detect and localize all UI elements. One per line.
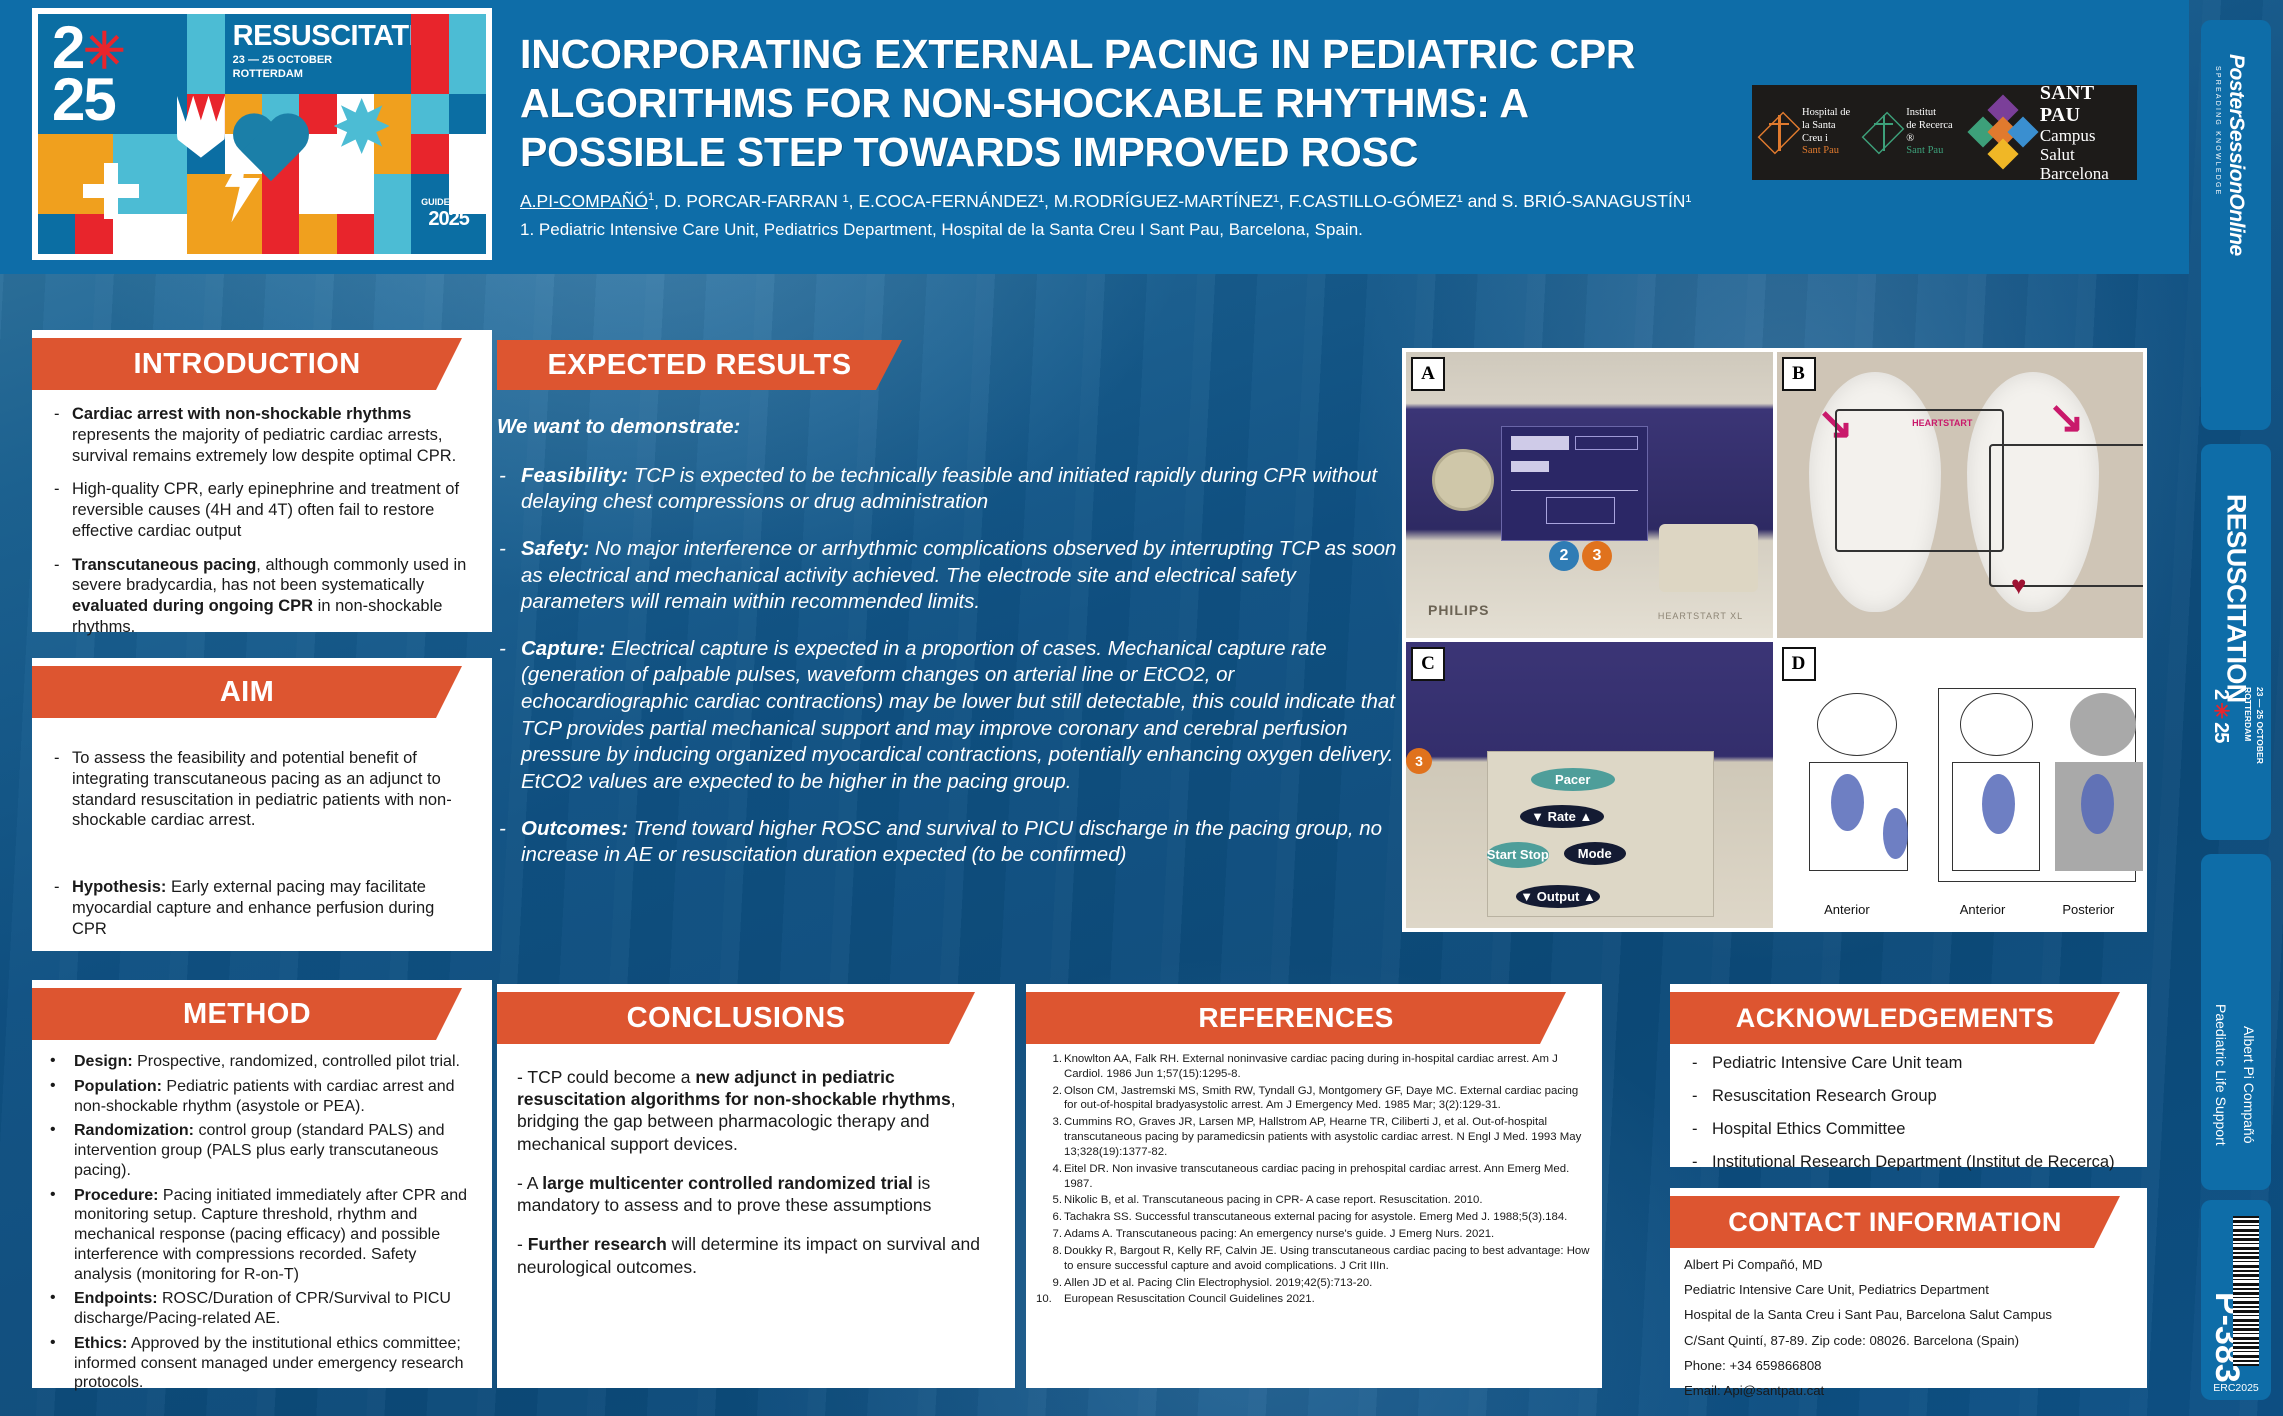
references-body: Knowlton AA, Falk RH. External noninvasi…: [1026, 1044, 1602, 1307]
list-item: To assess the feasibility and potential …: [50, 748, 472, 831]
conclusions-body: - TCP could become a new adjunct in pedi…: [497, 1044, 1015, 1278]
expected-item-outcomes: Outcomes: Trend toward higher ROSC and s…: [497, 816, 1402, 869]
sidebar-conference-dates: 23 — 25 OCTOBER ROTTERDAM: [2241, 687, 2265, 764]
hospital-line1: Hospital de: [1802, 107, 1856, 120]
tile-cyan: [411, 94, 448, 134]
section-title: AIM: [220, 676, 274, 709]
sidebar-topic-label: Paediatric Life Support: [2213, 1004, 2229, 1146]
poster-header: 2✳ 25 RESUSCITATION 23 — 25 OCTOBER ROTT…: [0, 0, 2189, 274]
institut-line1: Institut: [1906, 107, 1956, 120]
section-conclusions: CONCLUSIONS - TCP could become a new adj…: [497, 984, 1015, 1388]
barcode-icon: [2233, 1216, 2259, 1366]
list-item: Hospital Ethics Committee: [1684, 1120, 2141, 1139]
section-expected-results: EXPECTED RESULTS We want to demonstrate:…: [497, 340, 1402, 889]
institution-logos: Hospital de la Santa Creu i Sant Pau Ins…: [1752, 85, 2137, 180]
conclusion-paragraph: - A large multicenter controlled randomi…: [517, 1172, 993, 1216]
figure-panel-c-pacer-controls: C 3 Pacer ▼ Rate ▲ Start Stop Mode ▼ Out…: [1406, 642, 1773, 928]
section-method: METHOD Design: Prospective, randomized, …: [32, 980, 492, 1388]
author-list: A.PI-COMPAÑÓ1, D. PORCAR-FARRAN ¹, E.COC…: [520, 192, 1720, 210]
contact-department: Pediatric Intensive Care Unit, Pediatric…: [1684, 1283, 2141, 1296]
list-item: Randomization: control group (standard P…: [38, 1121, 478, 1180]
diamond-cross-icon: [1762, 108, 1796, 158]
list-item: Resuscitation Research Group: [1684, 1087, 2141, 1106]
contact-hospital: Hospital de la Santa Creu i Sant Pau, Ba…: [1684, 1308, 2141, 1321]
logo-sant-pau-campus: SANT PAU Campus Salut Barcelona: [1972, 82, 2127, 184]
defibrillator-screen: [1501, 426, 1648, 540]
contact-email[interactable]: Email: Api@santpau.cat: [1684, 1384, 2141, 1397]
reference-item: Eitel DR. Non invasive transcutaneous ca…: [1038, 1162, 1592, 1192]
tile-cyan: [187, 14, 224, 54]
medical-cross-icon: [83, 163, 139, 219]
santpau-line3: Barcelona: [2040, 164, 2127, 183]
electrode-posterior: [2081, 774, 2114, 834]
section-title: CONTACT INFORMATION: [1728, 1207, 2062, 1238]
reference-item: Allen JD et al. Pacing Clin Electrophysi…: [1038, 1276, 1592, 1291]
figure-panel-b-pads: B ↘ ↘ HEARTSTART ♥: [1777, 352, 2144, 638]
figure-tag-a: A: [1411, 357, 1445, 391]
contact-address: C/Sant Quintí, 87-89. Zip code: 08026. B…: [1684, 1334, 2141, 1347]
aim-list: To assess the feasibility and potential …: [50, 748, 472, 939]
heart-icon: ♥: [2011, 570, 2026, 601]
contact-name: Albert Pi Compañó, MD: [1684, 1258, 2141, 1271]
figure-caption-posterior: Posterior: [2062, 902, 2114, 917]
tile-cyan: [449, 14, 486, 94]
diamond-cross-icon: [1866, 108, 1900, 158]
section-header-expected-results: EXPECTED RESULTS: [497, 340, 902, 390]
asterisk-icon: ✳: [2210, 699, 2232, 722]
reference-item: Olson CM, Jastremski MS, Smith RW, Tynda…: [1038, 1084, 1592, 1114]
figure-tag-b: B: [1782, 357, 1816, 391]
references-list: Knowlton AA, Falk RH. External noninvasi…: [1038, 1052, 1592, 1307]
sidebar-conference-name: RESUSCITATION: [2223, 494, 2250, 703]
affiliation: 1. Pediatric Intensive Care Unit, Pediat…: [520, 220, 1720, 240]
conference-year-logo: 2✳ 25: [38, 14, 187, 134]
tile-red: [411, 134, 448, 174]
poster-canvas: 2✳ 25 RESUSCITATION 23 — 25 OCTOBER ROTT…: [0, 0, 2283, 1416]
section-header-introduction: INTRODUCTION: [32, 338, 462, 390]
list-item: Ethics: Approved by the institutional et…: [38, 1334, 478, 1393]
hospital-line2: la Santa Creu i: [1802, 120, 1856, 146]
section-header-aim: AIM: [32, 666, 462, 718]
tile-cyan: [374, 174, 411, 214]
institut-line3: Sant Pau: [1906, 145, 1956, 158]
logo-institut-recerca: Institut de Recerca ® Sant Pau: [1866, 107, 1956, 158]
list-item: Transcutaneous pacing, although commonly…: [50, 555, 472, 638]
coauthors: , D. PORCAR-FARRAN ¹, E.COCA-FERNÁNDEZ¹,…: [654, 191, 1691, 211]
head-filled: [2070, 693, 2136, 756]
tile-dark: [38, 214, 75, 254]
head-outline: [1960, 693, 2033, 756]
reference-item: Doukky R, Bargout R, Kelly RF, Calvin JE…: [1038, 1244, 1592, 1274]
conference-dates: 23 — 25 OCTOBER: [233, 54, 332, 66]
mode-button[interactable]: Mode: [1564, 842, 1626, 865]
list-item: Procedure: Pacing initiated immediately …: [38, 1186, 478, 1285]
reference-item: Nikolic B, et al. Transcutaneous pacing …: [1038, 1193, 1592, 1208]
torso-diagram: [1835, 409, 2004, 552]
conference-name: RESUSCITATION: [233, 22, 406, 51]
device-brand-label: PHILIPS: [1428, 602, 1489, 618]
section-contact-information: CONTACT INFORMATION Albert Pi Compañó, M…: [1670, 1188, 2147, 1388]
heart-icon: [229, 115, 313, 193]
reference-item: Tachakra SS. Successful transcutaneous e…: [1038, 1210, 1592, 1225]
section-title: CONCLUSIONS: [627, 1002, 846, 1035]
device-model-label: HEARTSTART XL: [1658, 611, 1743, 621]
santpau-line2: Campus Salut: [2040, 126, 2127, 164]
sidebar-conference-year: 2✳25: [2209, 689, 2233, 742]
reference-item: Cummins RO, Graves JR, Larsen MP, Hallst…: [1038, 1115, 1592, 1159]
reference-item: Adams A. Transcutaneous pacing: An emerg…: [1038, 1227, 1592, 1242]
list-item: Hypothesis: Early external pacing may fa…: [50, 877, 472, 939]
section-header-acknowledgements: ACKNOWLEDGEMENTS: [1670, 992, 2120, 1044]
presenting-author: A.PI-COMPAÑÓ: [520, 191, 648, 211]
control-pad: [1659, 524, 1758, 593]
figure-tag-d: D: [1782, 647, 1816, 681]
reference-item: Knowlton AA, Falk RH. External noninvasi…: [1038, 1052, 1592, 1082]
electrode-anterior: [1982, 774, 2015, 834]
expected-item-safety: Safety: No major interference or arrhyth…: [497, 536, 1402, 616]
institut-line2: de Recerca ®: [1906, 120, 1956, 146]
list-item: Pediatric Intensive Care Unit team: [1684, 1054, 2141, 1073]
pacer-button[interactable]: Pacer: [1531, 768, 1615, 791]
figure-panel-a-defibrillator: A 2 3 PHILIPS HEARTSTART XL: [1406, 352, 1773, 638]
list-item: Population: Pediatric patients with card…: [38, 1077, 478, 1117]
page-title: INCORPORATING EXTERNAL PACING IN PEDIATR…: [520, 30, 1720, 176]
button-3-icon: 3: [1582, 541, 1612, 571]
button-3-icon: 3: [1406, 748, 1432, 774]
tile-red: [75, 214, 112, 254]
energy-select-dial: [1432, 449, 1494, 511]
list-item: High-quality CPR, early epinephrine and …: [50, 479, 472, 541]
conclusion-paragraph: - Further research will determine its im…: [517, 1233, 993, 1277]
section-header-conclusions: CONCLUSIONS: [497, 992, 975, 1044]
diamond-cluster-icon: [1972, 99, 2034, 167]
button-2-icon: 2: [1549, 541, 1579, 571]
section-header-references: REFERENCES: [1026, 992, 1566, 1044]
head-outline: [1817, 693, 1898, 756]
infant-diagram: [1989, 444, 2143, 587]
acknowledgements-list: Pediatric Intensive Care Unit team Resus…: [1670, 1044, 2147, 1172]
sidebar-topic-card: Paediatric Life Support Albert Pi Compañ…: [2201, 854, 2271, 1190]
section-aim: AIM To assess the feasibility and potent…: [32, 658, 492, 951]
arrow-icon: ↘: [2048, 392, 2085, 443]
expected-item-capture: Capture: Electrical capture is expected …: [497, 636, 1402, 796]
logo-year-bottom: 25: [52, 66, 115, 133]
contact-body: Albert Pi Compañó, MD Pediatric Intensiv…: [1670, 1248, 2147, 1397]
figure-caption-anterior-1: Anterior: [1824, 902, 1870, 917]
tile-orange: [374, 134, 411, 174]
tile-orange: [187, 214, 262, 254]
reference-item: European Resuscitation Council Guideline…: [1038, 1292, 1592, 1307]
conclusion-paragraph: - TCP could become a new adjunct in pedi…: [517, 1066, 993, 1155]
sidebar-postersessiononline[interactable]: PosterSessionOnline SPREADING KNOWLEDGE: [2201, 20, 2271, 430]
section-title: REFERENCES: [1198, 1002, 1393, 1034]
tile-orange: [187, 174, 224, 214]
list-item: Endpoints: ROSC/Duration of CPR/Survival…: [38, 1289, 478, 1329]
section-title: ACKNOWLEDGEMENTS: [1736, 1003, 2054, 1034]
tile-white: [449, 134, 486, 214]
postersessiononline-tagline: SPREADING KNOWLEDGE: [2214, 66, 2221, 196]
method-list: Design: Prospective, randomized, control…: [38, 1052, 478, 1393]
sidebar-author-label: Albert Pi Compañó: [2241, 1026, 2257, 1144]
conference-title-tile: RESUSCITATION 23 — 25 OCTOBER ROTTERDAM: [225, 14, 412, 94]
figure-tag-c: C: [1411, 647, 1445, 681]
hospital-line3: Sant Pau: [1802, 145, 1856, 158]
figure-caption-anterior-2: Anterior: [1960, 902, 2006, 917]
start-stop-button[interactable]: Start Stop: [1487, 842, 1549, 868]
section-acknowledgements: ACKNOWLEDGEMENTS Pediatric Intensive Car…: [1670, 984, 2147, 1167]
tile-cyan: [187, 54, 224, 94]
section-title: METHOD: [183, 998, 311, 1031]
list-item: Design: Prospective, randomized, control…: [38, 1052, 478, 1072]
sidebar-resuscitation-brand: RESUSCITATION 2✳25 23 — 25 OCTOBER ROTTE…: [2201, 444, 2271, 840]
postersessiononline-logo: PosterSessionOnline: [2226, 54, 2246, 256]
expected-results-lead: We want to demonstrate:: [497, 414, 1402, 441]
rate-button[interactable]: ▼ Rate ▲: [1520, 805, 1604, 828]
acknowledgements-body: Pediatric Intensive Care Unit team Resus…: [1670, 1044, 2147, 1172]
section-title: INTRODUCTION: [133, 348, 360, 381]
tile-dark: [449, 94, 486, 134]
list-item: Institutional Research Department (Insti…: [1684, 1153, 2141, 1172]
santpau-line1: SANT PAU: [2040, 82, 2127, 127]
tile-red: [337, 214, 374, 254]
pad-brand-label: HEARTSTART: [1912, 418, 1972, 428]
section-introduction: INTRODUCTION Cardiac arrest with non-sho…: [32, 330, 492, 632]
poster-sidebar: PosterSessionOnline SPREADING KNOWLEDGE …: [2189, 0, 2283, 1416]
conference-logo: 2✳ 25 RESUSCITATION 23 — 25 OCTOBER ROTT…: [32, 8, 492, 260]
logo-hospital-santa-creu: Hospital de la Santa Creu i Sant Pau: [1762, 107, 1856, 158]
erc-label: ERC2025: [2213, 1382, 2259, 1394]
section-references: REFERENCES Knowlton AA, Falk RH. Externa…: [1026, 984, 1602, 1388]
section-header-contact: CONTACT INFORMATION: [1670, 1196, 2120, 1248]
figure-panel-group: A 2 3 PHILIPS HEARTSTART XL B: [1402, 348, 2147, 932]
list-item: Cardiac arrest with non-shockable rhythm…: [50, 404, 472, 466]
tile-orange: [299, 214, 336, 254]
figure-panel-d-electrode-placement: D Anterior Anterior Posterior: [1777, 642, 2144, 928]
tile-red: [411, 14, 448, 94]
tile-cyan: [374, 214, 411, 254]
introduction-list: Cardiac arrest with non-shockable rhythm…: [50, 404, 472, 638]
section-title: EXPECTED RESULTS: [548, 349, 852, 382]
sidebar-poster-number-card: P-383 ERC2025: [2201, 1200, 2271, 1400]
title-block: INCORPORATING EXTERNAL PACING IN PEDIATR…: [520, 30, 1720, 240]
expected-results-body: We want to demonstrate: Feasibility: TCP…: [497, 414, 1402, 869]
output-button[interactable]: ▼ Output ▲: [1516, 885, 1600, 908]
conference-city: ROTTERDAM: [233, 68, 303, 80]
starburst-icon: [334, 98, 390, 154]
contact-phone: Phone: +34 659866808: [1684, 1359, 2141, 1372]
expected-item-feasibility: Feasibility: TCP is expected to be techn…: [497, 463, 1402, 516]
tile-white: [113, 214, 188, 254]
section-header-method: METHOD: [32, 988, 462, 1040]
